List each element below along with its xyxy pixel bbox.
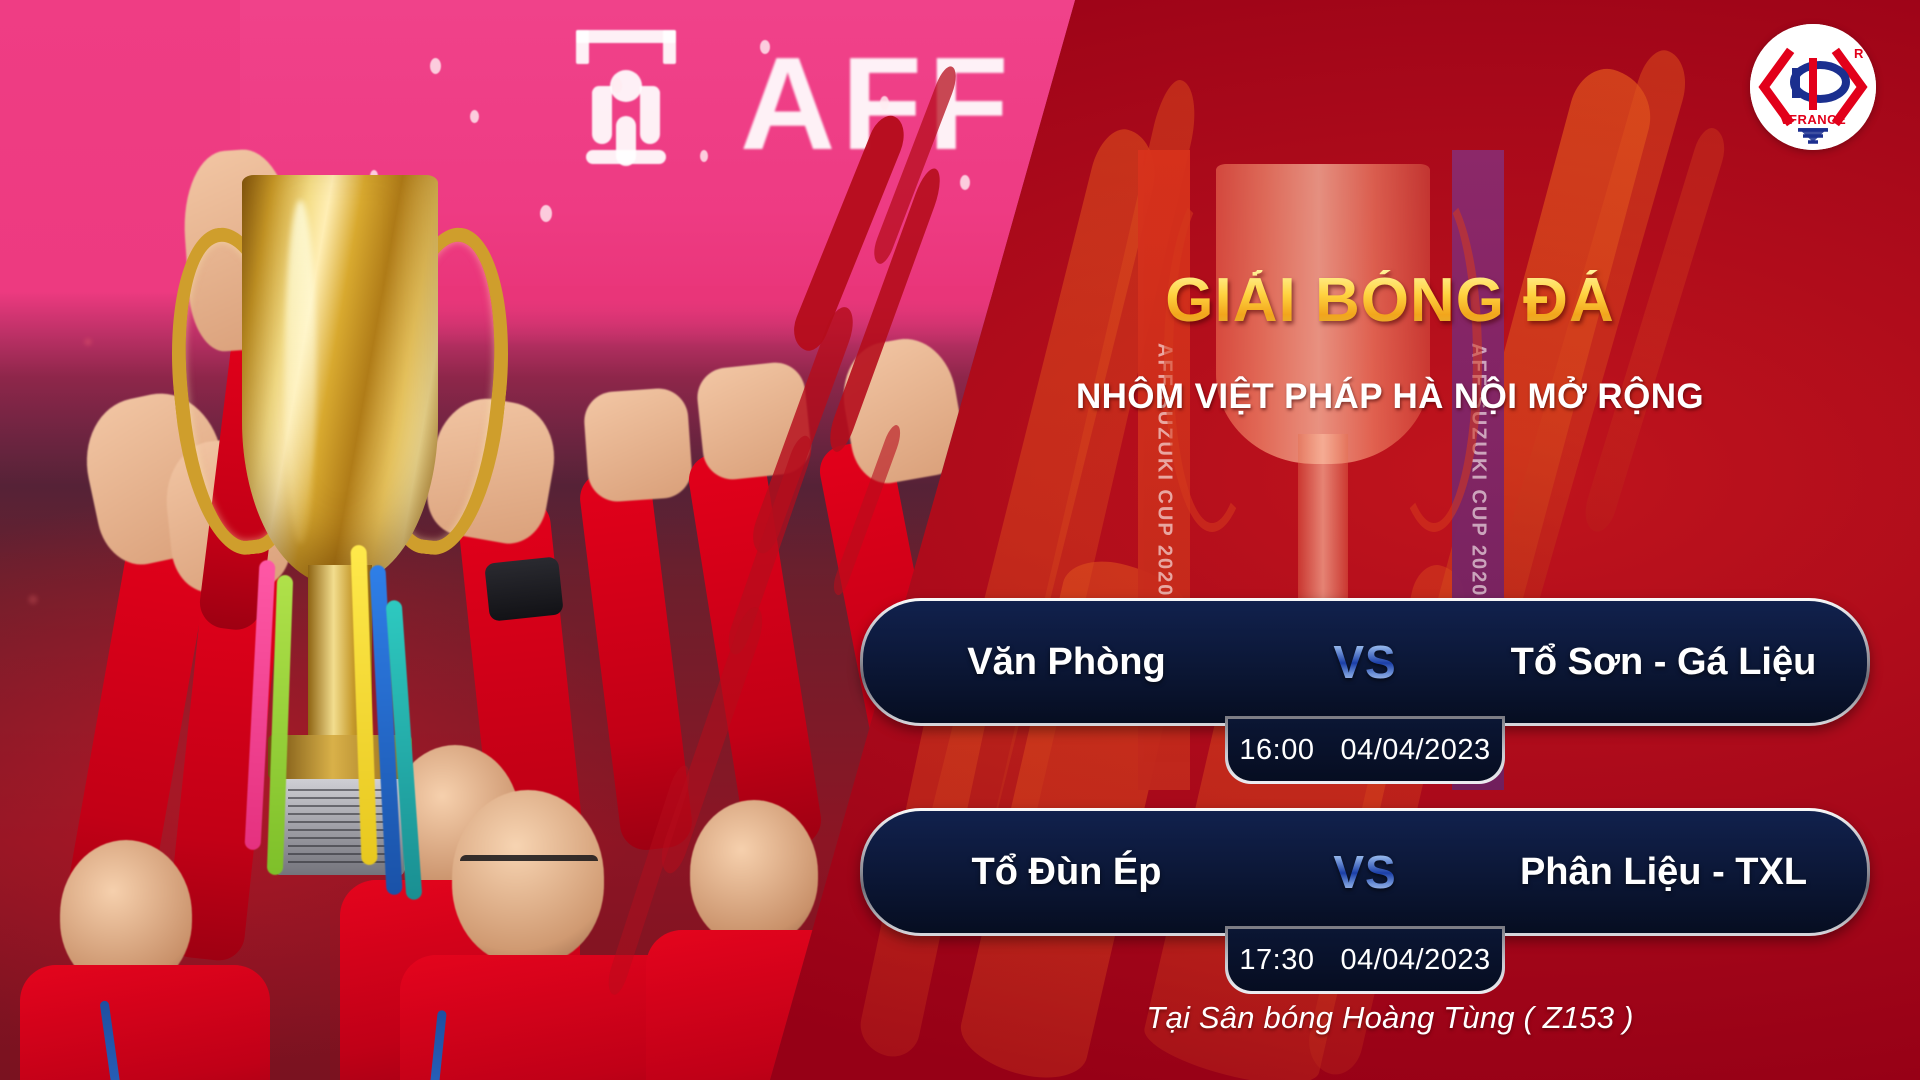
match-pill: Tổ Đùn Ép VS Phân Liệu - TXL [860,808,1870,936]
raised-fist [582,387,693,504]
poster-content: R VFRANCE GIẢI BÓNG ĐÁ NHÔM VIỆT PHÁP HÀ… [860,0,1920,1080]
page-title: GIẢI BÓNG ĐÁ [860,270,1920,332]
match-card[interactable]: Tổ Đùn Ép VS Phân Liệu - TXL 17:30 04/04… [860,808,1870,936]
match-date: 04/04/2023 [1340,734,1490,767]
vs-label: VS [1270,845,1460,899]
vfrance-logo[interactable]: R VFRANCE [1750,24,1876,150]
match-time: 17:30 [1239,944,1314,977]
page-subtitle: NHÔM VIỆT PHÁP HÀ NỘI MỞ RỘNG [860,377,1920,417]
raised-fist [694,360,813,483]
away-team-name: Phân Liệu - TXL [1460,851,1867,894]
wristwatch [484,556,564,621]
home-team-name: Tổ Đùn Ép [863,851,1270,894]
player-head [690,800,818,946]
match-card[interactable]: Văn Phòng VS Tổ Sơn - Gá Liệu 16:00 04/0… [860,598,1870,726]
match-pill: Văn Phòng VS Tổ Sơn - Gá Liệu [860,598,1870,726]
match-time: 16:00 [1239,734,1314,767]
player-torso [20,965,270,1080]
away-team-name: Tổ Sơn - Gá Liệu [1460,641,1867,684]
aff-logo-mark [570,30,682,180]
svg-text:R: R [1854,46,1864,61]
match-time-tab: 17:30 04/04/2023 [1225,926,1505,994]
vs-label: VS [1270,635,1460,689]
venue-text: Tại Sân bóng Hoàng Tùng ( Z153 ) [860,1000,1920,1036]
gold-trophy [190,175,490,875]
match-time-tab: 16:00 04/04/2023 [1225,716,1505,784]
match-date: 04/04/2023 [1340,944,1490,977]
home-team-name: Văn Phòng [863,641,1270,684]
tournament-poster: AFF SUZUKI CUP 2020 AFF SUZUKI CUP 2020 [0,0,1920,1080]
svg-text:VFRANCE: VFRANCE [1780,112,1846,127]
